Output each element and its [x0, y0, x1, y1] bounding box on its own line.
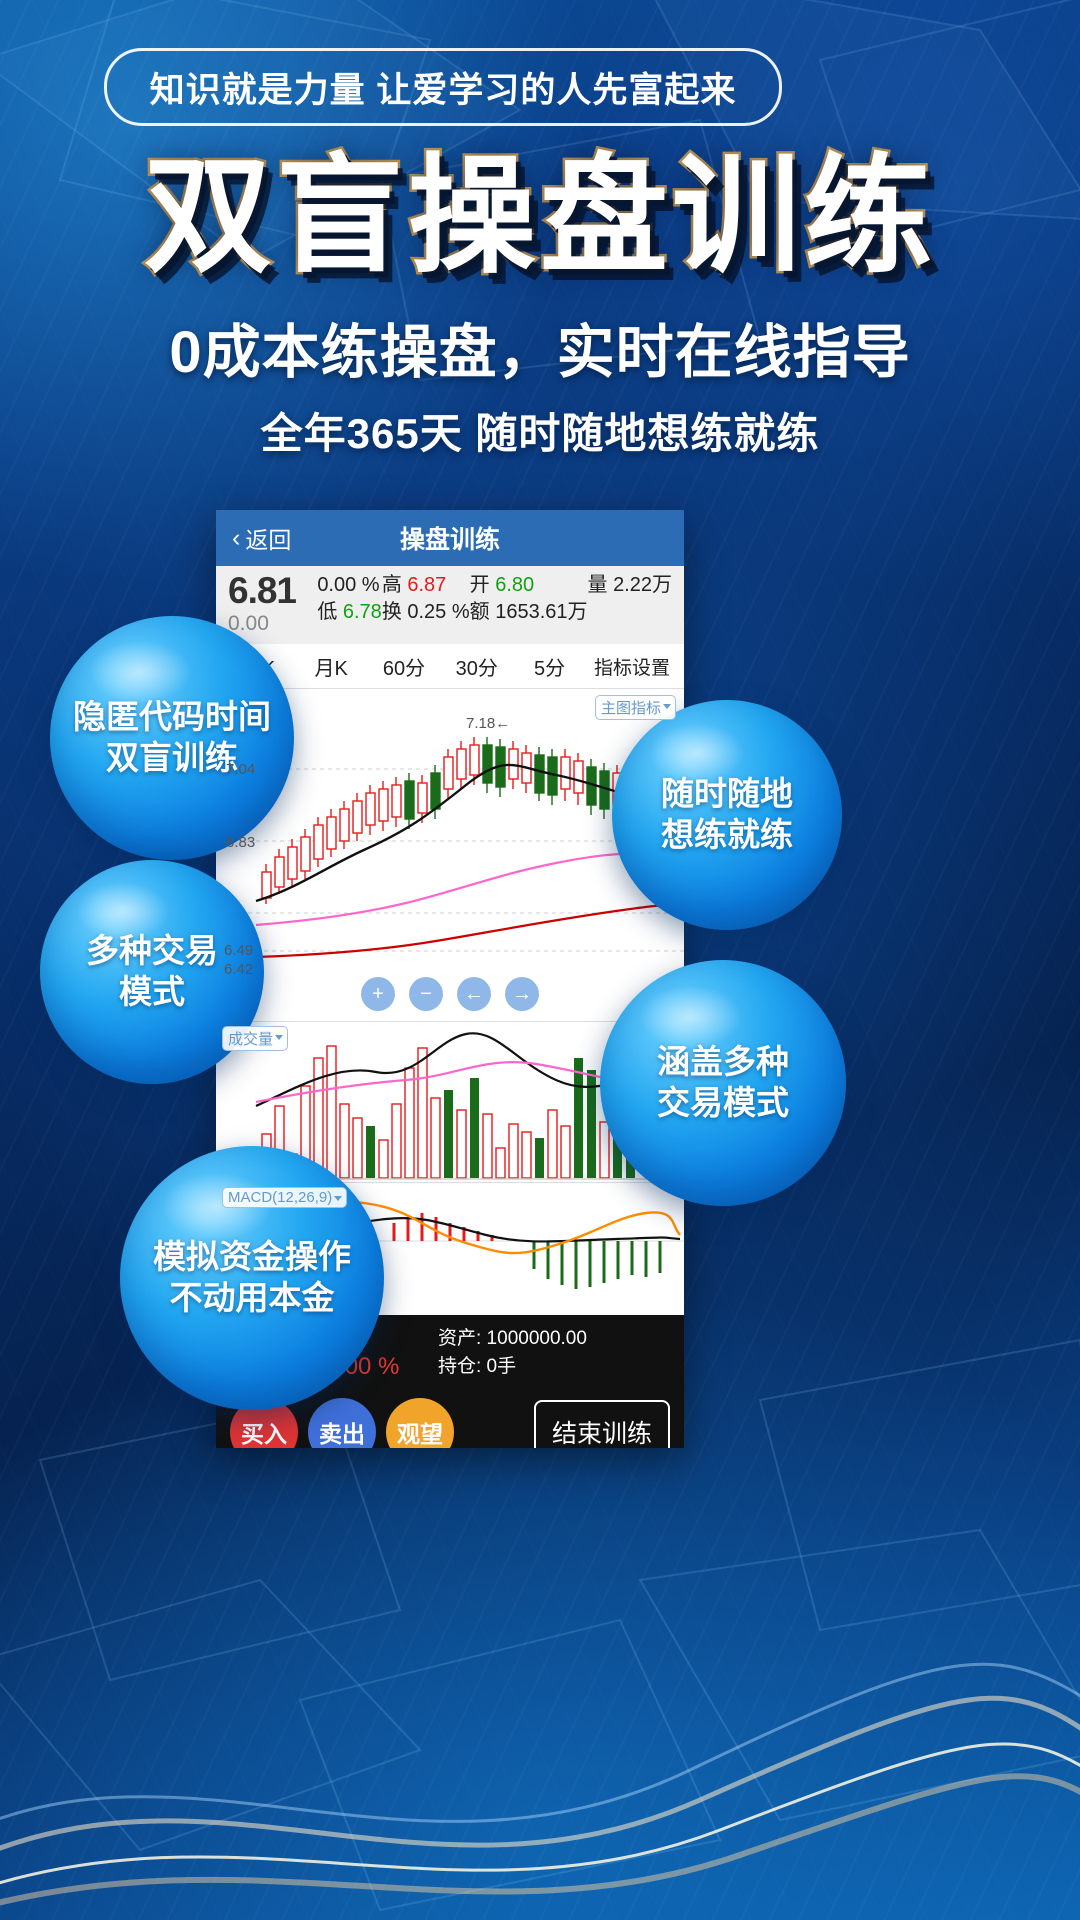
quote-cell-low: 低 6.78: [317, 599, 382, 626]
quote-panel: 6.81 0.00 0.00 % 低 6.78 高 6.87: [216, 566, 684, 644]
app-navbar: ‹ 返回 操盘训练: [216, 510, 684, 566]
quote-cell-high: 高 6.87: [382, 572, 470, 599]
price-label-high: 7.04: [226, 761, 255, 778]
bubble-line-2: 双盲训练: [106, 738, 238, 779]
bubble-line-2: 交易模式: [657, 1083, 789, 1124]
bubble-line-2: 模式: [119, 972, 185, 1013]
quote-cell-amount: 额 1653.61万: [470, 599, 588, 626]
hold-button[interactable]: 观望: [386, 1398, 454, 1448]
price-label-peak: 7.18←: [466, 715, 510, 732]
quote-last-price: 6.81: [228, 572, 317, 609]
back-button-label: 返回: [245, 521, 291, 555]
feature-bubble-covers-modes: 涵盖多种 交易模式: [600, 960, 846, 1206]
bubble-line-2: 不动用本金: [170, 1278, 335, 1319]
tab-30min[interactable]: 30分: [440, 652, 513, 681]
zoom-in-button[interactable]: +: [361, 977, 395, 1011]
quote-cell-turnover-rate: 换 0.25 %: [382, 599, 470, 626]
quote-price-block: 6.81 0.00: [228, 572, 317, 637]
quote-change: 0.00: [228, 611, 317, 637]
price-label-low2: 6.42: [224, 961, 253, 978]
tab-indicator-settings[interactable]: 指标设置: [586, 653, 678, 680]
page-title: 双盲操盘训练: [0, 148, 1080, 286]
main-indicator-badge[interactable]: 主图指标: [595, 695, 676, 720]
feature-bubble-simulated-funds: 模拟资金操作 不动用本金: [120, 1146, 384, 1410]
bubble-line-1: 多种交易: [86, 931, 218, 972]
pan-right-button[interactable]: →: [505, 977, 539, 1011]
bubble-line-1: 隐匿代码时间: [73, 697, 271, 738]
pan-left-button[interactable]: ←: [457, 977, 491, 1011]
assets-label: 资产: 1000000.00: [438, 1325, 684, 1353]
back-button[interactable]: ‹ 返回: [232, 521, 291, 555]
feature-bubble-anytime-anywhere: 随时随地 想练就练: [612, 700, 842, 930]
end-training-button[interactable]: 结束训练: [534, 1400, 670, 1448]
macd-indicator-badge[interactable]: MACD(12,26,9): [222, 1187, 347, 1208]
tab-60min[interactable]: 60分: [368, 652, 441, 681]
subtitle-secondary: 全年365天 随时随地想练就练: [0, 400, 1080, 461]
price-label-low1: 6.49: [224, 942, 253, 959]
quote-change-pct: 0.00 %: [317, 572, 382, 599]
price-label-mid: 6.83: [226, 834, 255, 851]
zoom-out-button[interactable]: −: [409, 977, 443, 1011]
background-glow-ribbons: [0, 1500, 1080, 1920]
sell-button[interactable]: 卖出: [308, 1398, 376, 1448]
bubble-line-2: 想练就练: [661, 815, 793, 856]
quote-cell-volume: 量 2.22万: [588, 572, 673, 599]
tab-5min[interactable]: 5分: [513, 652, 586, 681]
chart-nav-buttons: + − ← →: [361, 977, 539, 1011]
bubble-line-1: 随时随地: [661, 774, 793, 815]
volume-indicator-badge[interactable]: 成交量: [222, 1026, 288, 1051]
tab-month-k[interactable]: 月K: [295, 652, 368, 681]
subtitle-primary: 0成本练操盘，实时在线指导: [0, 305, 1080, 389]
bubble-line-1: 模拟资金操作: [153, 1237, 351, 1278]
chevron-left-icon: ‹: [232, 526, 240, 551]
feature-bubble-blind-training: 隐匿代码时间 双盲训练: [50, 616, 294, 860]
quote-cell-open: 开 6.80: [470, 572, 588, 599]
timeframe-tabs: 周K 月K 60分 30分 5分 指标设置: [216, 644, 684, 689]
bubble-line-1: 涵盖多种: [657, 1042, 789, 1083]
header-banner-text: 知识就是力量 让爱学习的人先富起来: [150, 62, 737, 113]
position-label: 持仓: 0手: [438, 1353, 684, 1381]
header-banner: 知识就是力量 让爱学习的人先富起来: [104, 48, 782, 126]
